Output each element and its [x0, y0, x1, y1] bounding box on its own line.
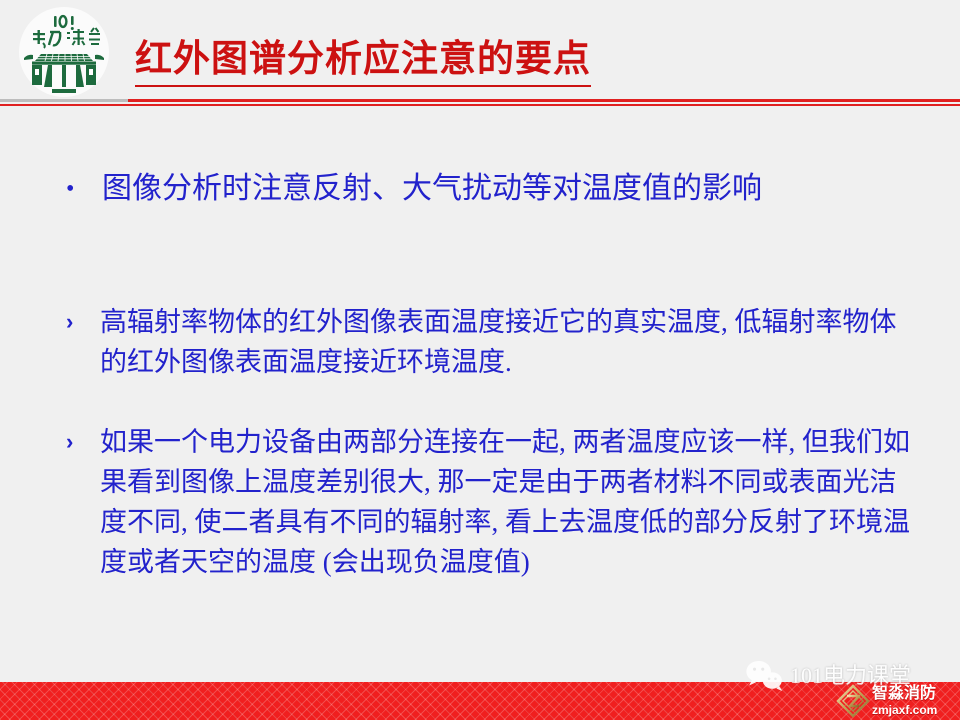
- bullet-text-1: 图像分析时注意反射、大气扰动等对温度值的影响: [102, 167, 912, 211]
- slide-content: • 图像分析时注意反射、大气扰动等对温度值的影响 › 高辐射率物体的红外图像表面…: [0, 112, 960, 672]
- brand-url: zmjaxf.com: [872, 703, 937, 717]
- header-divider-red-thin: [0, 104, 960, 106]
- zhimiao-diamond-logo-icon: [836, 684, 870, 718]
- bullet-marker-chevron-icon: ›: [62, 422, 100, 462]
- slide-header: 红外图谱分析应注意的要点: [0, 0, 960, 108]
- bullet-text-2: 高辐射率物体的红外图像表面温度接近它的真实温度, 低辐射率物体的红外图像表面温度…: [100, 302, 918, 382]
- footer-pattern: [0, 682, 960, 720]
- bullet-text-3: 如果一个电力设备由两部分连接在一起, 两者温度应该一样, 但我们如果看到图像上温…: [100, 422, 918, 582]
- bullet-marker-dot: •: [62, 167, 102, 211]
- bullet-marker-chevron-icon: ›: [62, 302, 100, 342]
- header-divider-red: [128, 99, 960, 102]
- brand-name: 智淼消防: [872, 685, 937, 703]
- brand-logo[interactable]: 智淼消防 zmjaxf.com: [836, 681, 960, 720]
- bullet-item-1: • 图像分析时注意反射、大气扰动等对温度值的影响: [62, 167, 912, 211]
- slide-canvas: 红外图谱分析应注意的要点 • 图像分析时注意反射、大气扰动等对温度值的影响 › …: [0, 0, 960, 720]
- bullet-item-3: › 如果一个电力设备由两部分连接在一起, 两者温度应该一样, 但我们如果看到图像…: [62, 422, 918, 582]
- footer-band: [0, 682, 960, 720]
- page-title: 红外图谱分析应注意的要点: [135, 37, 591, 87]
- brand-text-block: 智淼消防 zmjaxf.com: [872, 685, 937, 717]
- 101-dianli-ketang-logo: [14, 2, 114, 102]
- bullet-item-2: › 高辐射率物体的红外图像表面温度接近它的真实温度, 低辐射率物体的红外图像表面…: [62, 302, 918, 382]
